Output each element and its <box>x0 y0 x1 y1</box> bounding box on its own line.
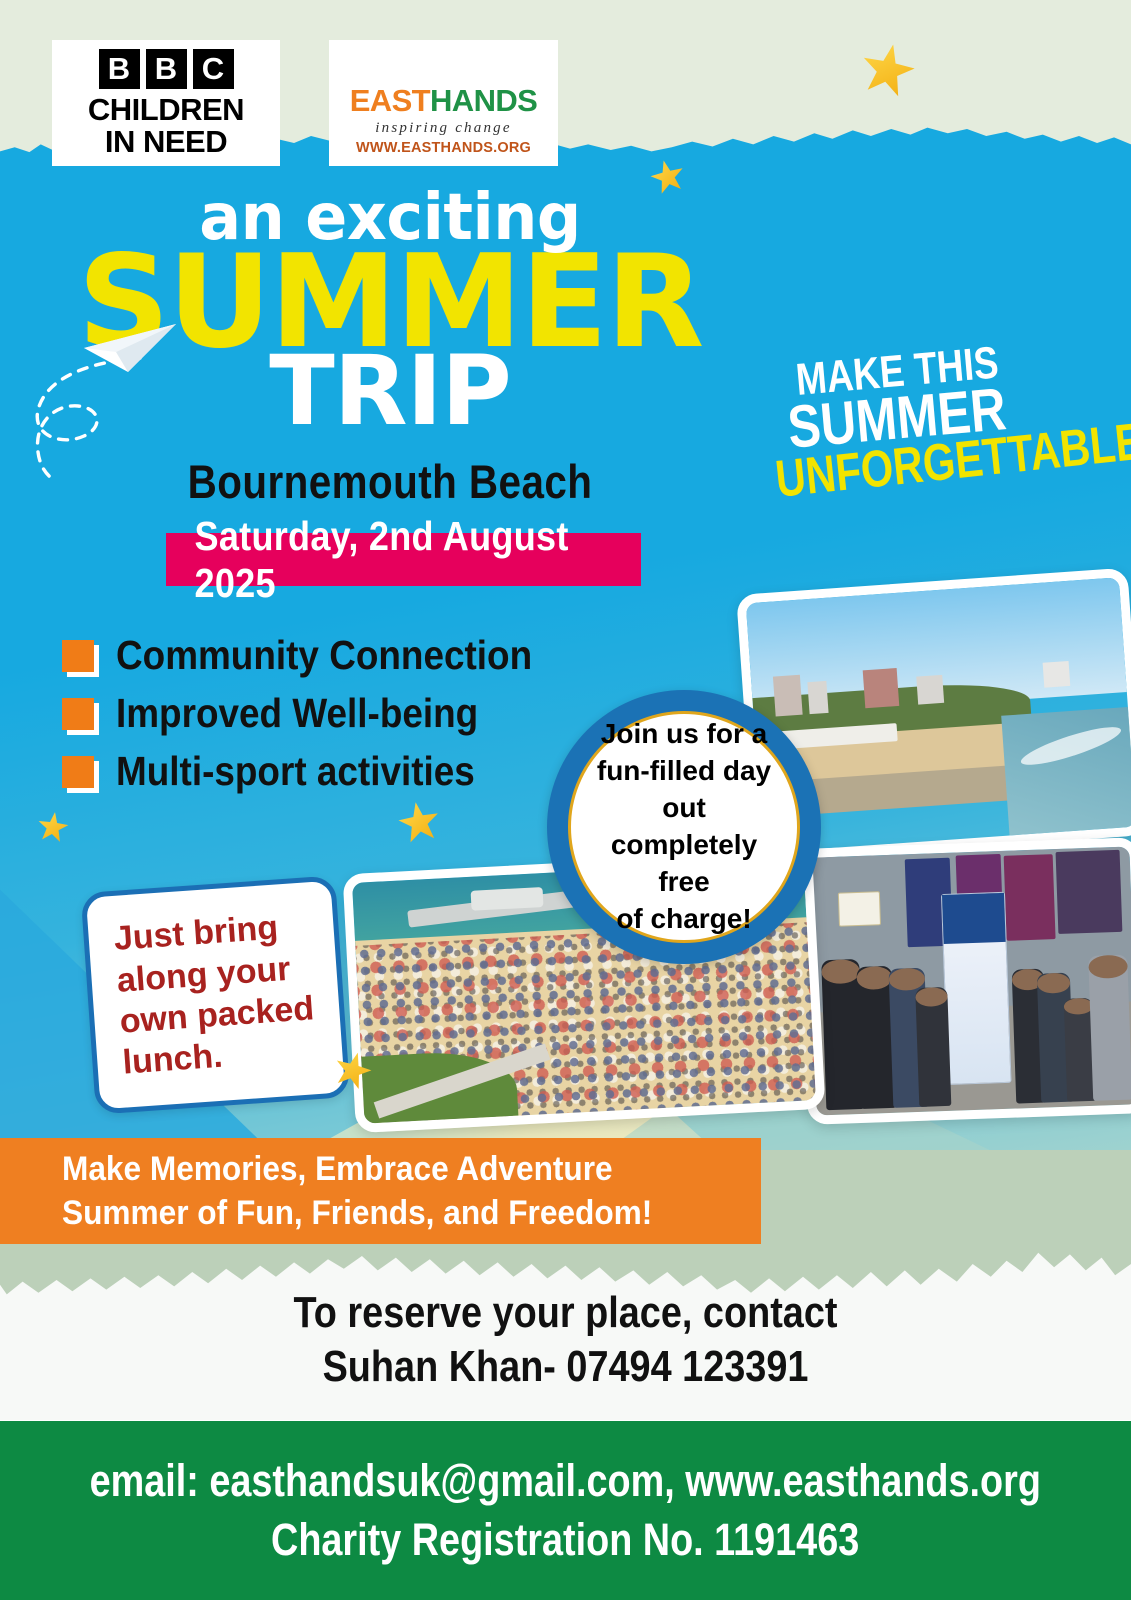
packed-lunch-note: Just bring along your own packed lunch. <box>81 875 351 1114</box>
tagline-banner: Make Memories, Embrace Adventure Summer … <box>0 1138 761 1244</box>
easthands-arcs-icon <box>356 51 532 81</box>
contact-phone[interactable]: Suhan Khan- 07494 123391 <box>79 1340 1052 1394</box>
headline-kicker: an exciting <box>0 185 780 249</box>
benefit-label: Multi-sport activities <box>116 748 475 795</box>
easthands-logo: EASTHANDS inspiring change WWW.EASTHANDS… <box>329 40 558 166</box>
footer-bar: email: easthandsuk@gmail.com, www.eastha… <box>0 1421 1131 1600</box>
photo-group <box>798 837 1131 1125</box>
benefit-label: Improved Well-being <box>116 690 478 737</box>
event-date-banner: Saturday, 2nd August 2025 <box>166 533 641 586</box>
bbc-block-1: B <box>99 49 140 89</box>
easthands-tagline: inspiring change <box>375 120 511 137</box>
contact-line1: To reserve your place, contact <box>79 1286 1052 1340</box>
contact-block: To reserve your place, contact Suhan Kha… <box>0 1286 1131 1393</box>
bbc-letter-blocks: B B C <box>99 49 234 89</box>
list-item: Improved Well-being <box>62 690 578 737</box>
bbc-block-3: C <box>193 49 234 89</box>
event-date-text: Saturday, 2nd August 2025 <box>195 513 613 607</box>
badge-text: Join us for a fun-filled day out complet… <box>571 716 797 938</box>
list-item: Community Connection <box>62 632 578 679</box>
tagline-line1: Make Memories, Embrace Adventure <box>62 1147 712 1191</box>
badge-inner-ring: Join us for a fun-filled day out complet… <box>568 711 800 943</box>
footer-charity-number: Charity Registration No. 1191463 <box>271 1511 859 1570</box>
list-item: Multi-sport activities <box>62 748 578 795</box>
bullet-square-icon <box>62 640 94 672</box>
bbc-logo-line1: CHILDREN <box>88 94 244 126</box>
bbc-children-in-need-logo: B B C CHILDREN IN NEED <box>52 40 280 166</box>
photo-group-image <box>808 846 1131 1115</box>
bbc-block-2: B <box>146 49 187 89</box>
paper-plane-icon <box>82 318 178 376</box>
easthands-url: WWW.EASTHANDS.ORG <box>356 140 531 156</box>
footer-contact[interactable]: email: easthandsuk@gmail.com, www.eastha… <box>90 1452 1041 1511</box>
packed-lunch-text: Just bring along your own packed lunch. <box>105 905 327 1085</box>
benefit-label: Community Connection <box>116 632 532 679</box>
bbc-logo-line2: IN NEED <box>105 126 227 158</box>
free-of-charge-badge: Join us for a fun-filled day out complet… <box>547 690 821 964</box>
bullet-square-icon <box>62 698 94 730</box>
unforgettable-block: MAKE THIS SUMMER UNFORGETTABLE! <box>780 360 1110 504</box>
bullet-square-icon <box>62 756 94 788</box>
poster-canvas: B B C CHILDREN IN NEED EASTHANDS inspiri… <box>0 0 1131 1600</box>
tagline-line2: Summer of Fun, Friends, and Freedom! <box>62 1191 712 1235</box>
benefits-list: Community Connection Improved Well-being… <box>62 632 578 806</box>
